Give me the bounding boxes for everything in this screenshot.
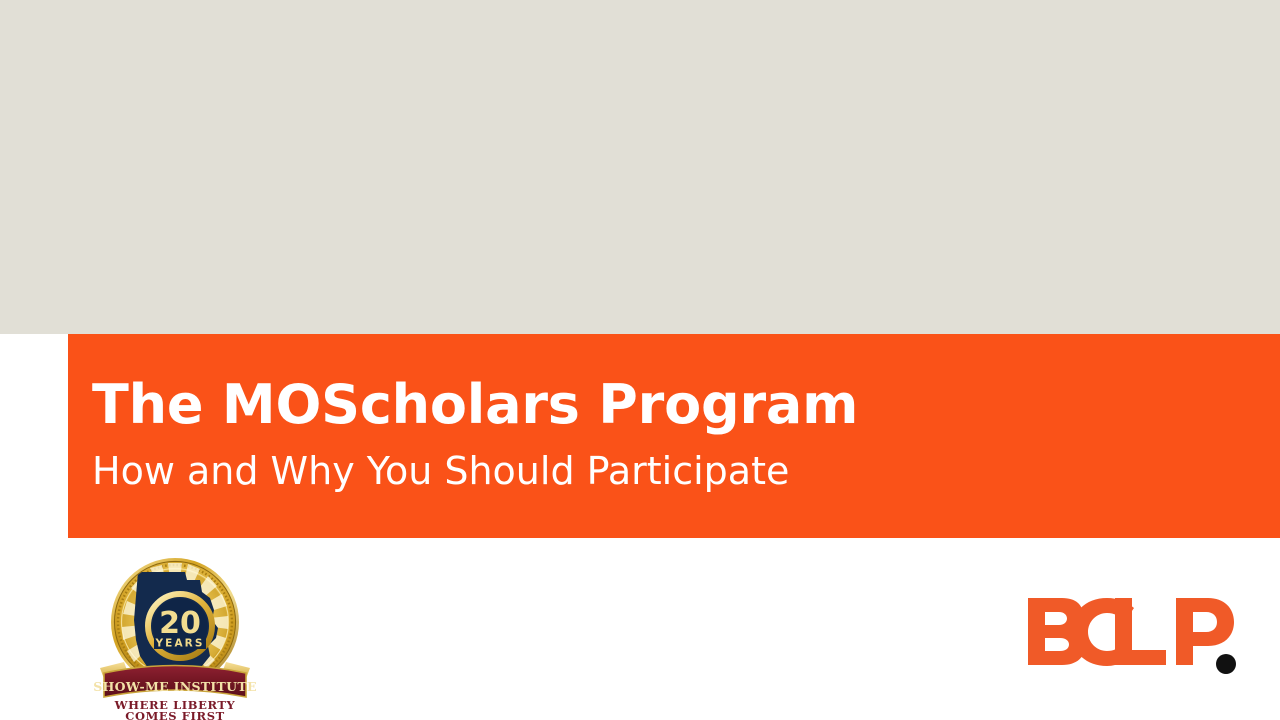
bclp-dot bbox=[1216, 654, 1236, 674]
organization-name: SHOW-ME INSTITUTE bbox=[93, 679, 257, 694]
show-me-institute-logo: 20 YEARS SHOW-ME INSTITUTE WHERE LIBERTY… bbox=[90, 550, 260, 720]
bclp-wordmark bbox=[1028, 598, 1234, 666]
page-title: The MOScholars Program bbox=[92, 376, 858, 434]
page-subtitle: How and Why You Should Participate bbox=[92, 451, 789, 493]
image-placeholder-band bbox=[0, 0, 1280, 334]
anniversary-label: YEARS bbox=[154, 638, 204, 650]
tagline-line-2: COMES FIRST bbox=[125, 709, 225, 720]
title-banner: The MOScholars Program How and Why You S… bbox=[68, 334, 1280, 538]
presentation-slide: The MOScholars Program How and Why You S… bbox=[0, 0, 1280, 720]
anniversary-number: 20 bbox=[159, 606, 201, 641]
bclp-logo bbox=[1026, 594, 1244, 676]
